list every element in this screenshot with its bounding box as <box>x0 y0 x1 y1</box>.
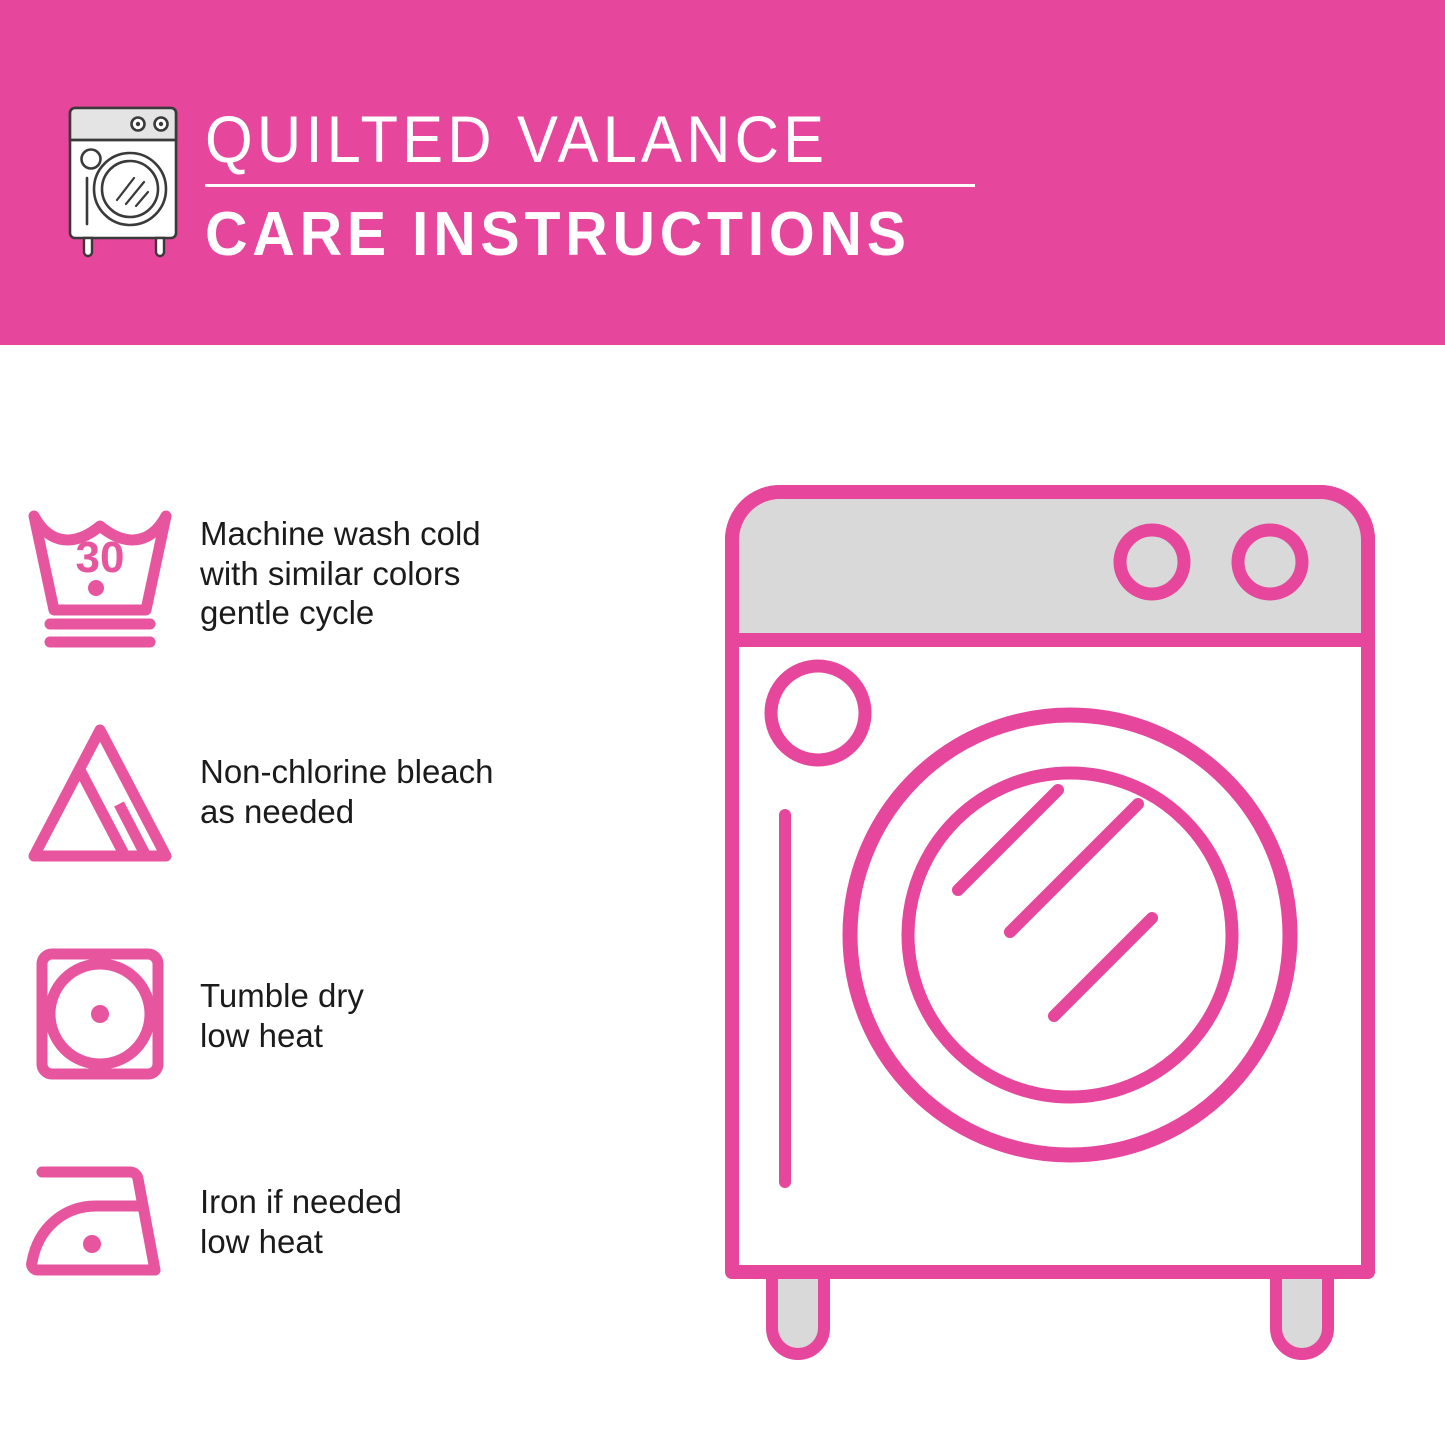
care-label-machine-wash: Machine wash cold with similar colors ge… <box>200 500 481 633</box>
care-label-tumble-dry: Tumble dry low heat <box>200 940 364 1055</box>
page-subtitle: CARE INSTRUCTIONS <box>205 200 956 270</box>
non-chlorine-bleach-triangle-icon <box>0 718 200 868</box>
title-divider <box>205 184 975 187</box>
care-instructions-page: QUILTED VALANCE CARE INSTRUCTIONS 30 Mac… <box>0 0 1445 1445</box>
care-row-tumble-dry: Tumble dry low heat <box>0 940 620 1090</box>
tumble-dry-icon <box>0 940 200 1090</box>
washing-machine-illustration <box>710 470 1390 1370</box>
machine-wash-basin-icon: 30 <box>0 500 200 650</box>
detergent-dispenser-circle <box>771 666 865 760</box>
care-row-iron: Iron if needed low heat <box>0 1150 620 1300</box>
care-label-bleach: Non-chlorine bleach as needed <box>200 718 494 831</box>
page-title: QUILTED VALANCE <box>205 100 940 178</box>
wash-temperature-label: 30 <box>76 533 125 582</box>
drum-inner-circle <box>908 773 1232 1097</box>
header-banner: QUILTED VALANCE CARE INSTRUCTIONS <box>0 0 1445 345</box>
header-title-block: QUILTED VALANCE CARE INSTRUCTIONS <box>205 100 995 270</box>
care-label-iron: Iron if needed low heat <box>200 1150 402 1261</box>
care-row-bleach: Non-chlorine bleach as needed <box>0 718 620 868</box>
control-knob-left <box>1120 530 1184 594</box>
care-row-machine-wash: 30 Machine wash cold with similar colors… <box>0 500 620 650</box>
leg-right <box>1276 1270 1328 1354</box>
washing-machine-icon <box>62 100 190 260</box>
leg-left <box>772 1270 824 1354</box>
control-knob-right <box>1238 530 1302 594</box>
iron-icon <box>0 1150 200 1300</box>
